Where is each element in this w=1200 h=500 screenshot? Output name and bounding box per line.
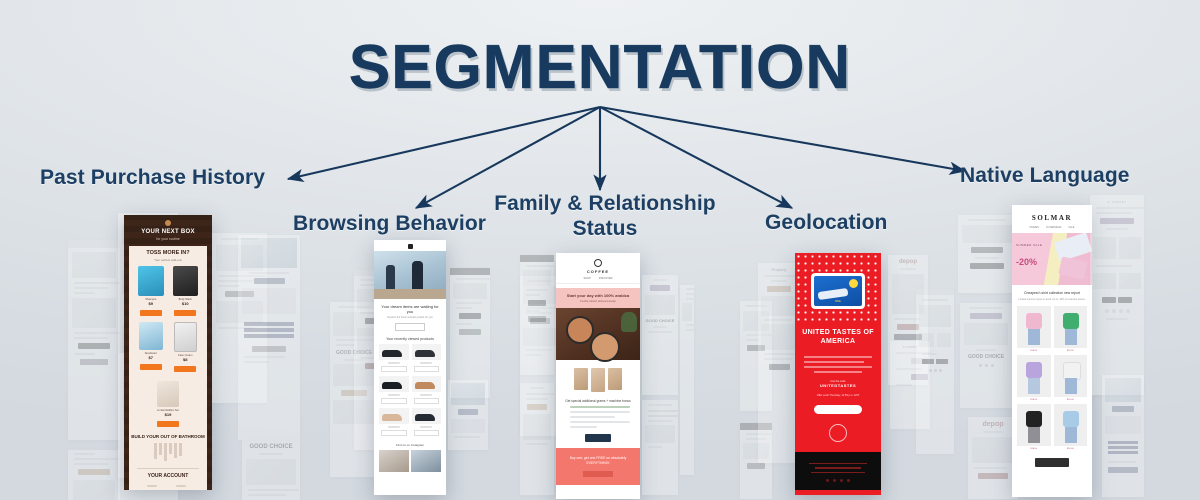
footer-promo-banner: Buy one, get one FREE on absolutely EVER… <box>556 448 640 485</box>
retro-tv-graphic: USA <box>811 273 865 309</box>
featured-brand-title: YOUR NEXT BOX <box>124 229 212 235</box>
featured-mid-heading: BUILD YOUR OUT OF BATHROOM <box>129 434 207 439</box>
cta-add-button[interactable] <box>174 366 196 372</box>
arrow-native-language <box>600 107 965 171</box>
featured-email-browsing-behavior[interactable]: Your dream items are waiting for you Exp… <box>374 240 446 495</box>
product-card[interactable]: $18.00 <box>1054 355 1088 401</box>
background-email <box>448 380 488 450</box>
hero-photo-coffee <box>556 308 640 360</box>
featured-email-geolocation[interactable]: USA UNITED TASTES OF AMERICA Use the cod… <box>795 253 881 495</box>
cta-shop-now-button[interactable] <box>1035 458 1069 467</box>
background-email <box>916 289 954 454</box>
featured-headline: Cheapest t-shirt collection new report <box>1017 291 1087 296</box>
background-email <box>238 235 300 440</box>
brand-wordmark-depop: depop <box>968 417 1018 428</box>
background-email: GOOD CHOICE <box>642 275 678 395</box>
label-browsing-behavior: Browsing Behavior <box>293 212 486 237</box>
arrow-past-purchase-history <box>288 107 600 179</box>
lifestyle-photo <box>411 450 441 472</box>
product-card[interactable]: $18.00 <box>1054 306 1088 352</box>
featured-sub-heading: Your recently viewed products <box>374 337 446 341</box>
label-native-language: Native Language <box>960 164 1130 189</box>
background-email: e-mailer <box>1090 195 1144 395</box>
cluster-family-relationship-status: COFFEE SHOP DISCOVER Start your day with… <box>520 245 695 500</box>
background-email <box>68 450 120 500</box>
brand-logo-mark <box>165 220 171 226</box>
cta-order-now-button[interactable] <box>814 405 861 414</box>
background-email <box>642 400 678 495</box>
product-card[interactable]: $18.00 <box>1017 355 1051 401</box>
featured-headline: UNITED TASTES OF AMERICA <box>795 329 881 347</box>
background-email <box>68 240 120 440</box>
background-email: Property <box>758 263 800 463</box>
segmentation-infographic: SEGMENTATION Past Purchase History Brows… <box>0 0 1200 500</box>
nav-link-outerwear[interactable]: OUTERWEAR <box>1046 226 1062 229</box>
background-email <box>450 268 490 398</box>
product-card[interactable] <box>412 344 442 373</box>
cta-add-button[interactable] <box>174 310 196 316</box>
product-coffee-bag <box>591 368 605 392</box>
label-family-relationship-status: Family & Relationship Status <box>480 192 730 242</box>
featured-email-native-language[interactable]: SOLMAR WOMEN OUTERWEAR SALE SUMMER SALE … <box>1012 205 1092 497</box>
cluster-geolocation: Property USA UNITED T <box>740 245 955 500</box>
background-email <box>520 255 554 375</box>
discount-value: -20% <box>1016 257 1037 267</box>
brand-wordmark-depop: depop <box>888 255 928 265</box>
promo-banner: SUMMER SALE -20% <box>1012 233 1092 285</box>
product-card[interactable]: $18.00 <box>1054 404 1088 450</box>
featured-headline: TOSS MORE IN? <box>129 250 207 256</box>
background-email: depop <box>968 417 1018 499</box>
brand-logo-mark <box>594 259 602 267</box>
cta-footer-button[interactable] <box>583 471 613 477</box>
nav-link-sale[interactable]: SALE <box>1068 226 1074 229</box>
nav-link-discover[interactable]: DISCOVER <box>599 277 613 280</box>
cta-buy-now-button[interactable] <box>585 434 610 442</box>
background-email <box>958 215 1016 293</box>
hero-photo <box>374 251 446 299</box>
featured-body-heading: Get special additional grams + machine b… <box>562 399 634 403</box>
cluster-native-language: GOOD CHOICE depop SOLMAR WOMEN OUTERWEAR… <box>950 195 1160 500</box>
brand-logo-mark <box>829 424 847 442</box>
lifestyle-photo <box>379 450 409 472</box>
product-coffee-bag <box>608 368 622 390</box>
cta-add-button[interactable] <box>157 421 179 427</box>
background-email <box>680 285 694 475</box>
product-card[interactable] <box>379 408 409 437</box>
cta-shop-button[interactable] <box>395 323 426 331</box>
product-card[interactable] <box>412 376 442 405</box>
background-email <box>1102 375 1144 497</box>
featured-email-family-relationship-status[interactable]: COFFEE SHOP DISCOVER Start your day with… <box>556 253 640 499</box>
cluster-past-purchase-history: GOOD CHOICE depop YOUR NEXT BOX for your… <box>60 205 310 500</box>
cta-add-button[interactable] <box>140 364 162 370</box>
product-card[interactable]: $18.00 <box>1017 306 1051 352</box>
brand-logo-mark <box>408 244 413 249</box>
background-email: GOOD CHOICE <box>960 303 1012 408</box>
featured-brand-title: SOLMAR <box>1012 214 1092 222</box>
product-card[interactable] <box>379 344 409 373</box>
cta-add-button[interactable] <box>140 310 162 316</box>
product-card[interactable] <box>379 376 409 405</box>
featured-brand-title: COFFEE <box>556 269 640 274</box>
promo-banner: Start your day with 100% arabica Freshly… <box>556 288 640 308</box>
nav-link-women[interactable]: WOMEN <box>1029 226 1038 229</box>
background-email: GOOD CHOICE <box>242 440 300 500</box>
product-card[interactable] <box>412 408 442 437</box>
product-coffee-bag <box>574 368 588 390</box>
featured-email-past-purchase-history[interactable]: YOUR NEXT BOX for your routine TOSS MORE… <box>124 215 212 490</box>
background-email <box>520 383 554 495</box>
label-past-purchase-history: Past Purchase History <box>40 166 265 191</box>
nav-link-shop[interactable]: SHOP <box>584 277 591 280</box>
product-card[interactable]: $18.00 <box>1017 404 1051 450</box>
label-geolocation: Geolocation <box>765 211 887 236</box>
featured-headline: Your dream items are waiting for you <box>378 304 442 314</box>
